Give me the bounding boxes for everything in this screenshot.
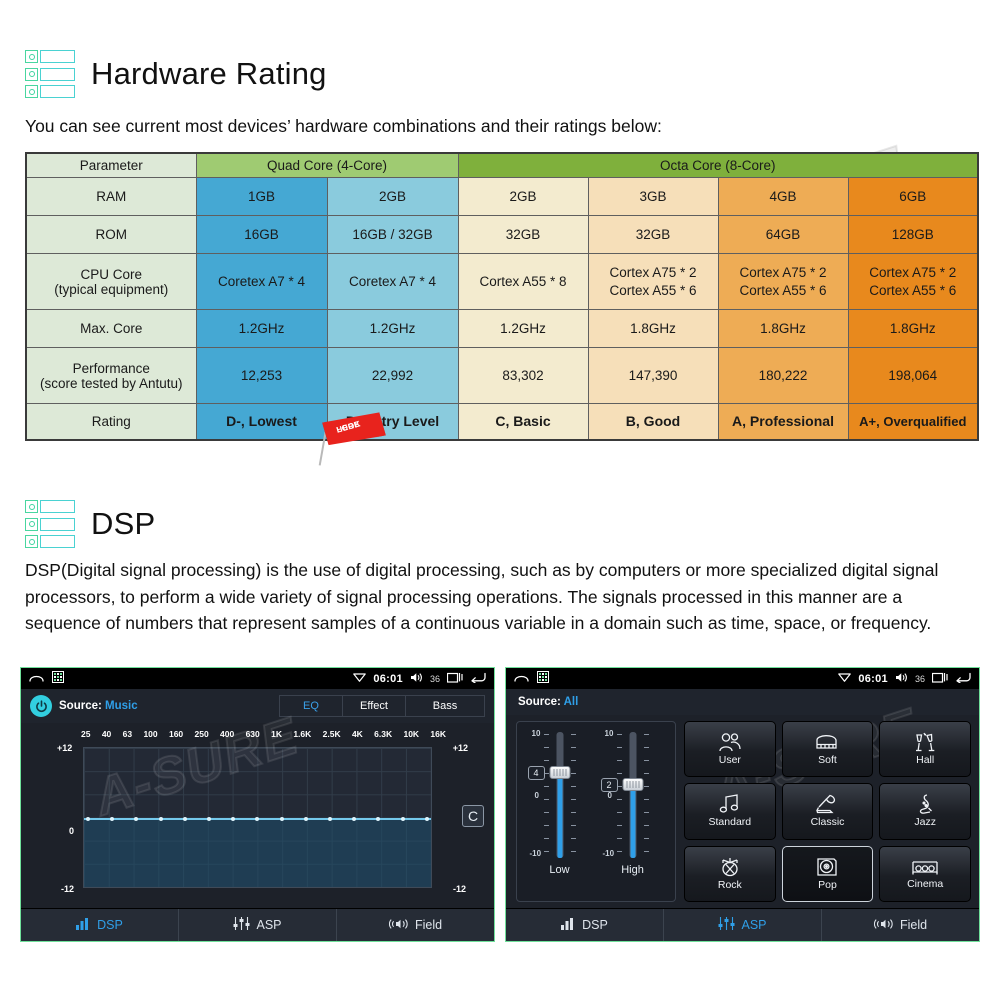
device-screenshot-asp: 06:01 36: [505, 667, 980, 942]
status-bar: 06:01 36: [21, 668, 494, 689]
status-time: 06:01: [858, 673, 888, 685]
preset-label: Soft: [818, 754, 837, 766]
cell-cpu-4: Cortex A75 * 2 Cortex A55 * 6: [718, 254, 848, 310]
slider-high-max: 10: [605, 729, 614, 738]
vinyl-record-icon: [815, 857, 839, 877]
slider-low-value: 4: [528, 766, 545, 780]
recents-icon[interactable]: [932, 672, 948, 686]
cell-perf-3: 147,390: [588, 348, 718, 404]
eq-band-handles[interactable]: [84, 818, 431, 821]
cell-cpu-0: Coretex A7 * 4: [196, 254, 327, 310]
performance-label: Performance: [30, 361, 193, 376]
eq-handle[interactable]: [352, 817, 356, 821]
source-label: Source: All: [518, 696, 578, 708]
eq-band-label: 63: [123, 729, 132, 739]
preset-user[interactable]: User: [684, 721, 776, 777]
cell-ram-1: 2GB: [327, 178, 458, 216]
recents-icon[interactable]: [447, 672, 463, 686]
row-label-rating: Rating: [26, 404, 196, 440]
cell-cpu-3: Cortex A75 * 2 Cortex A55 * 6: [588, 254, 718, 310]
nav-item-field[interactable]: Field: [822, 909, 979, 941]
cell-max-3: 1.8GHz: [588, 310, 718, 348]
cell-rating-2: C, Basic: [458, 404, 588, 440]
table-row: Performance (score tested by Antutu) 12,…: [26, 348, 978, 404]
users-icon: [717, 732, 743, 752]
hardware-rating-lead: You can see current most devices’ hardwa…: [25, 113, 955, 139]
preset-pop[interactable]: Pop: [782, 846, 874, 902]
eq-axis-bottom-left: -12: [61, 884, 74, 894]
cell-ram-4: 4GB: [718, 178, 848, 216]
eq-handle[interactable]: [425, 817, 429, 821]
home-icon[interactable]: [29, 672, 44, 686]
performance-sublabel: (score tested by Antutu): [30, 376, 193, 391]
hardware-rating-heading: Hardware Rating: [25, 50, 327, 98]
cell-cpu-5: Cortex A75 * 2 Cortex A55 * 6: [848, 254, 978, 310]
eq-handle[interactable]: [328, 817, 332, 821]
power-icon[interactable]: [30, 695, 52, 717]
slider-low-min: -10: [530, 849, 542, 858]
source-value: Music: [105, 700, 138, 712]
apps-grid-icon[interactable]: [52, 671, 64, 686]
cpu-core-label: CPU Core: [30, 267, 193, 282]
dsp-lead: DSP(Digital signal processing) is the us…: [25, 557, 973, 637]
cell-cpu-2: Cortex A55 * 8: [458, 254, 588, 310]
dsp-toolbar: Source: Music EQ Effect Bass: [21, 689, 494, 723]
eq-handle[interactable]: [207, 817, 211, 821]
bottom-nav-bar: DSP ASP: [21, 908, 494, 941]
cell-perf-0: 12,253: [196, 348, 327, 404]
preset-jazz[interactable]: Jazz: [879, 783, 971, 839]
volume-icon: [895, 672, 908, 686]
tab-effect[interactable]: Effect: [343, 696, 406, 716]
eq-handle[interactable]: [183, 817, 187, 821]
nav-item-dsp[interactable]: DSP: [506, 909, 664, 941]
eq-band-label: 400: [220, 729, 234, 739]
row-label-ram: RAM: [26, 178, 196, 216]
sound-field-icon: [389, 918, 409, 933]
preset-cinema[interactable]: Cinema: [879, 846, 971, 902]
row-label-cpu-core: CPU Core (typical equipment): [26, 254, 196, 310]
nav-item-asp[interactable]: ASP: [664, 909, 822, 941]
eq-handle[interactable]: [304, 817, 308, 821]
apps-grid-icon[interactable]: [537, 671, 549, 686]
th-parameter: Parameter: [26, 153, 196, 178]
eq-handle[interactable]: [376, 817, 380, 821]
cell-perf-4: 180,222: [718, 348, 848, 404]
eq-axis-top-left: +12: [57, 743, 72, 753]
cell-ram-3: 3GB: [588, 178, 718, 216]
cinema-seats-icon: [911, 858, 939, 876]
nav-label-asp: ASP: [256, 918, 281, 932]
drum-icon: [717, 857, 743, 877]
sliders-icon: [233, 917, 250, 933]
row-label-rom: ROM: [26, 216, 196, 254]
eq-band-label: 25: [81, 729, 90, 739]
eq-handle[interactable]: [86, 817, 90, 821]
source-label-text: Source:: [518, 696, 561, 708]
piano-icon: [814, 732, 840, 752]
slider-low-max: 10: [532, 729, 541, 738]
source-label-text: Source:: [59, 700, 102, 712]
back-icon[interactable]: [955, 672, 971, 686]
gramophone-icon: [814, 794, 840, 814]
cell-ram-5: 6GB: [848, 178, 978, 216]
eq-axis-bottom-right: -12: [453, 884, 466, 894]
slider-low-label: Low: [530, 864, 590, 876]
slider-high-min: -10: [603, 849, 615, 858]
eq-handle[interactable]: [231, 817, 235, 821]
tab-eq[interactable]: EQ: [280, 696, 343, 716]
eq-band-label: 40: [102, 729, 111, 739]
eq-band-label: 100: [143, 729, 157, 739]
cell-max-2: 1.2GHz: [458, 310, 588, 348]
champagne-glasses-icon: [913, 732, 937, 752]
status-time: 06:01: [373, 673, 403, 685]
table-row: RAM 1GB 2GB 2GB 3GB 4GB 6GB: [26, 178, 978, 216]
nav-label-asp: ASP: [741, 918, 766, 932]
preset-classic[interactable]: Classic: [782, 783, 874, 839]
hardware-rating-table: Parameter Quad Core (4-Core) Octa Core (…: [25, 152, 979, 441]
eq-graph[interactable]: [83, 747, 432, 888]
nav-item-dsp[interactable]: DSP: [21, 909, 179, 941]
slider-high-knob[interactable]: [622, 778, 643, 791]
cell-perf-2: 83,302: [458, 348, 588, 404]
preset-label: Hall: [916, 754, 934, 766]
th-octa-core: Octa Core (8-Core): [458, 153, 978, 178]
eq-axis-mid: 0: [69, 826, 74, 836]
eq-handle[interactable]: [280, 817, 284, 821]
eq-band-labels: 25 40 63 100 160 250 400 630 1K 1.6K 2.5…: [81, 729, 446, 739]
nav-item-field[interactable]: Field: [337, 909, 494, 941]
source-value: All: [564, 696, 579, 708]
sliders-icon: [718, 917, 735, 933]
home-icon[interactable]: [514, 672, 529, 686]
eq-band-label: 2.5K: [323, 729, 341, 739]
cell-rating-3: B, Good: [588, 404, 718, 440]
cell-max-5: 1.8GHz: [848, 310, 978, 348]
cell-perf-5: 198,064: [848, 348, 978, 404]
slider-high[interactable]: 2 10 0 -10 High: [603, 730, 663, 897]
nav-label-dsp: DSP: [97, 918, 123, 932]
eq-handle[interactable]: [255, 817, 259, 821]
cell-ram-0: 1GB: [196, 178, 327, 216]
slider-high-mid: 0: [608, 791, 612, 800]
nav-label-dsp: DSP: [582, 918, 608, 932]
volume-level: 36: [915, 674, 925, 684]
device-screenshot-dsp: 06:01 36: [20, 667, 495, 942]
table-row: ROM 16GB 16GB / 32GB 32GB 32GB 64GB 128G…: [26, 216, 978, 254]
saxophone-icon: [915, 794, 935, 814]
row-label-performance: Performance (score tested by Antutu): [26, 348, 196, 404]
eq-band-label: 1.6K: [293, 729, 311, 739]
row-label-max-core: Max. Core: [26, 310, 196, 348]
cell-cpu-1: Coretex A7 * 4: [327, 254, 458, 310]
asp-source-row: Source: All: [506, 689, 979, 715]
wifi-icon: [838, 672, 851, 685]
preset-label: Jazz: [914, 816, 936, 828]
preset-label: User: [719, 754, 741, 766]
preset-hall[interactable]: Hall: [879, 721, 971, 777]
nav-label-field: Field: [415, 918, 442, 932]
cell-rom-4: 64GB: [718, 216, 848, 254]
cell-rom-1: 16GB / 32GB: [327, 216, 458, 254]
cell-rating-1: D, Entry Level: [327, 404, 458, 440]
cell-rom-5: 128GB: [848, 216, 978, 254]
cell-max-0: 1.2GHz: [196, 310, 327, 348]
nav-label-field: Field: [900, 918, 927, 932]
preset-label: Rock: [718, 879, 742, 891]
eq-band-label: 6.3K: [374, 729, 392, 739]
slider-low-fill: [557, 772, 562, 858]
eq-handle[interactable]: [110, 817, 114, 821]
eq-band-label: 10K: [403, 729, 419, 739]
slider-high-value: 2: [601, 778, 618, 792]
cell-rating-5: A+, Overqualified: [848, 404, 978, 440]
cpu-core-sublabel: (typical equipment): [30, 282, 193, 297]
tab-bass[interactable]: Bass: [406, 696, 484, 716]
eq-handle[interactable]: [159, 817, 163, 821]
eq-band-label: 16K: [430, 729, 446, 739]
equalizer-panel: 25 40 63 100 160 250 400 630 1K 1.6K 2.5…: [21, 723, 494, 908]
wifi-icon: [353, 672, 366, 685]
music-note-icon: [719, 794, 741, 814]
eq-band-label: 4K: [352, 729, 363, 739]
asp-panel: 4 10 0 -10 Low: [506, 715, 979, 908]
bottom-nav-bar: DSP ASP: [506, 908, 979, 941]
status-bar: 06:01 36: [506, 668, 979, 689]
equalizer-bars-icon: [76, 918, 91, 933]
back-icon[interactable]: [470, 672, 486, 686]
eq-band-label: 630: [246, 729, 260, 739]
slider-low[interactable]: 4 10 0 -10 Low: [530, 730, 590, 897]
dsp-heading: DSP: [25, 500, 155, 548]
list-section-icon: [25, 500, 75, 548]
preset-rock[interactable]: Rock: [684, 846, 776, 902]
preset-label: Standard: [709, 816, 752, 828]
preset-soft[interactable]: Soft: [782, 721, 874, 777]
preset-standard[interactable]: Standard: [684, 783, 776, 839]
th-quad-core: Quad Core (4-Core): [196, 153, 458, 178]
eq-handle[interactable]: [401, 817, 405, 821]
slider-high-fill: [630, 784, 635, 858]
eq-reset-button[interactable]: C: [462, 805, 484, 827]
slider-high-label: High: [603, 864, 663, 876]
table-row: Rating D-, Lowest D, Entry Level C, Basi…: [26, 404, 978, 440]
sound-field-icon: [874, 918, 894, 933]
volume-level: 36: [430, 674, 440, 684]
table-row: Max. Core 1.2GHz 1.2GHz 1.2GHz 1.8GHz 1.…: [26, 310, 978, 348]
cell-rom-3: 32GB: [588, 216, 718, 254]
cell-rating-0: D-, Lowest: [196, 404, 327, 440]
eq-handle[interactable]: [134, 817, 138, 821]
cell-perf-1: 22,992: [327, 348, 458, 404]
slider-low-mid: 0: [535, 791, 539, 800]
page-title: Hardware Rating: [91, 56, 327, 92]
cell-max-4: 1.8GHz: [718, 310, 848, 348]
preset-grid: User Soft H: [684, 721, 971, 902]
tone-sliders: 4 10 0 -10 Low: [516, 721, 676, 902]
list-section-icon: [25, 50, 75, 98]
eq-fill-area: [84, 818, 431, 888]
preset-label: Cinema: [907, 878, 943, 890]
eq-tab-group: EQ Effect Bass: [279, 695, 485, 717]
preset-label: Classic: [811, 816, 845, 828]
nav-item-asp[interactable]: ASP: [179, 909, 337, 941]
eq-axis-top-right: +12: [453, 743, 468, 753]
table-header-row: Parameter Quad Core (4-Core) Octa Core (…: [26, 153, 978, 178]
cell-max-1: 1.2GHz: [327, 310, 458, 348]
table-row: CPU Core (typical equipment) Coretex A7 …: [26, 254, 978, 310]
slider-low-knob[interactable]: [549, 766, 570, 779]
volume-icon: [410, 672, 423, 686]
cell-rating-4: A, Professional: [718, 404, 848, 440]
eq-band-label: 250: [195, 729, 209, 739]
cell-ram-2: 2GB: [458, 178, 588, 216]
eq-band-label: 1K: [271, 729, 282, 739]
cell-rom-2: 32GB: [458, 216, 588, 254]
dsp-title: DSP: [91, 506, 155, 542]
preset-label: Pop: [818, 879, 837, 891]
equalizer-bars-icon: [561, 918, 576, 933]
source-label: Source: Music: [59, 700, 138, 712]
eq-band-label: 160: [169, 729, 183, 739]
cell-rom-0: 16GB: [196, 216, 327, 254]
